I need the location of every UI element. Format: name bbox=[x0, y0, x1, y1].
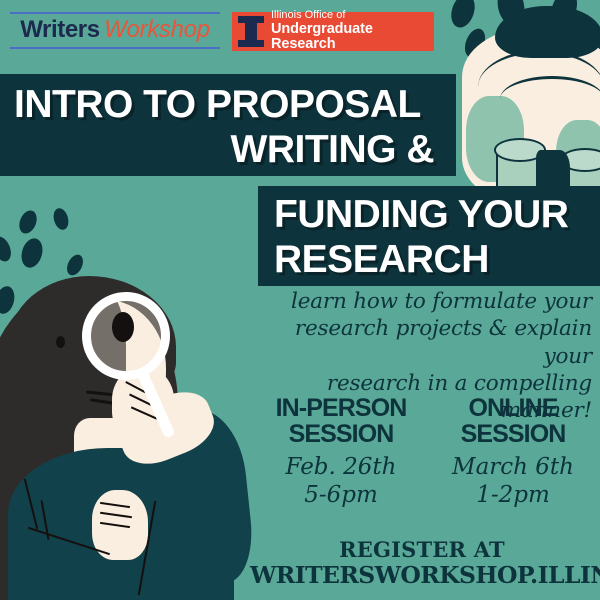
body-fold-line bbox=[138, 501, 157, 596]
writers-workshop-logo[interactable]: Writers Workshop bbox=[10, 12, 220, 49]
person-hand-lower bbox=[92, 490, 148, 560]
person-arm bbox=[141, 405, 257, 589]
body-fold-line bbox=[28, 527, 110, 555]
logo-word-workshop: Workshop bbox=[104, 16, 210, 43]
title-block-primary: INTRO TO PROPOSAL WRITING & bbox=[0, 74, 456, 176]
description-line-2: research projects & explain your bbox=[240, 315, 592, 370]
blob-decoration bbox=[18, 236, 45, 270]
registration-footer: REGISTER AT WRITERSWORKSHOP.ILLINOIS.EDU bbox=[250, 538, 594, 590]
person-hair-top bbox=[8, 276, 176, 396]
title-line-1: INTRO TO PROPOSAL bbox=[14, 82, 442, 127]
logo-word-writers: Writers bbox=[20, 16, 99, 43]
person-face bbox=[42, 300, 166, 448]
session-title-line-1: IN-PERSON bbox=[262, 396, 420, 422]
badge-line-2: Undergraduate Research bbox=[271, 22, 434, 53]
person-eye bbox=[56, 336, 65, 348]
description-line-1: learn how to formulate your bbox=[240, 288, 592, 315]
body-fold-line bbox=[24, 479, 39, 530]
jar-green-patch bbox=[466, 96, 524, 182]
person-hair-front bbox=[6, 278, 126, 446]
session-in-person: IN-PERSON SESSION Feb. 26th 5-6pm bbox=[262, 396, 420, 509]
coin-top bbox=[560, 148, 600, 172]
person-finger-line bbox=[100, 502, 130, 508]
coin-top bbox=[494, 138, 546, 162]
blob-decoration bbox=[0, 234, 14, 264]
illinois-office-badge[interactable]: Illinois Office of Undergraduate Researc… bbox=[232, 12, 434, 51]
illinois-i-block-icon bbox=[238, 16, 264, 47]
poster-canvas: Writers Workshop Illinois Office of Unde… bbox=[0, 0, 600, 600]
session-title: ONLINE SESSION bbox=[434, 396, 592, 447]
badge-line-1: Illinois Office of bbox=[271, 10, 434, 22]
person-finger-line bbox=[129, 394, 157, 409]
session-time: 1-2pm bbox=[434, 482, 592, 510]
body-fold-line bbox=[41, 500, 50, 540]
session-date: Feb. 26th bbox=[262, 454, 420, 482]
person-finger-line bbox=[100, 512, 132, 518]
person-finger-line bbox=[125, 381, 152, 397]
badge-text: Illinois Office of Undergraduate Researc… bbox=[271, 10, 434, 53]
person-forearm bbox=[110, 382, 221, 474]
magnifier-ring bbox=[82, 292, 170, 380]
person-finger-line bbox=[131, 406, 157, 419]
title-line-4: RESEARCH bbox=[274, 237, 594, 282]
header-bar: Writers Workshop Illinois Office of Unde… bbox=[0, 0, 600, 62]
person-hand-upper bbox=[112, 368, 174, 440]
blob-decoration bbox=[64, 252, 86, 278]
session-title-line-1: ONLINE bbox=[434, 396, 592, 422]
register-url[interactable]: WRITERSWORKSHOP.ILLINOIS.EDU bbox=[250, 562, 594, 589]
blob-decoration bbox=[16, 208, 40, 236]
session-online: ONLINE SESSION March 6th 1-2pm bbox=[434, 396, 592, 509]
session-title-line-2: SESSION bbox=[434, 422, 592, 448]
person-finger-line bbox=[100, 522, 130, 528]
session-time: 5-6pm bbox=[262, 482, 420, 510]
title-line-2: WRITING & bbox=[14, 127, 442, 172]
session-date: March 6th bbox=[434, 454, 592, 482]
title-line-3: FUNDING YOUR bbox=[274, 192, 594, 237]
register-label: REGISTER AT bbox=[250, 538, 594, 562]
person-mouth bbox=[86, 390, 116, 396]
person-ear bbox=[22, 352, 56, 394]
session-title-line-2: SESSION bbox=[262, 422, 420, 448]
sessions-row: IN-PERSON SESSION Feb. 26th 5-6pm ONLINE… bbox=[262, 396, 592, 509]
person-mouth bbox=[90, 398, 114, 404]
blob-decoration bbox=[0, 284, 17, 316]
person-body bbox=[8, 448, 234, 600]
blob-decoration bbox=[51, 206, 71, 231]
person-eye-magnified bbox=[112, 312, 134, 342]
person-neck bbox=[74, 418, 146, 498]
magnifier-handle bbox=[135, 367, 175, 439]
jar-rim-line bbox=[500, 76, 600, 99]
person-hair-back bbox=[0, 282, 178, 600]
title-block-secondary: FUNDING YOUR RESEARCH bbox=[258, 186, 600, 286]
session-title: IN-PERSON SESSION bbox=[262, 396, 420, 447]
